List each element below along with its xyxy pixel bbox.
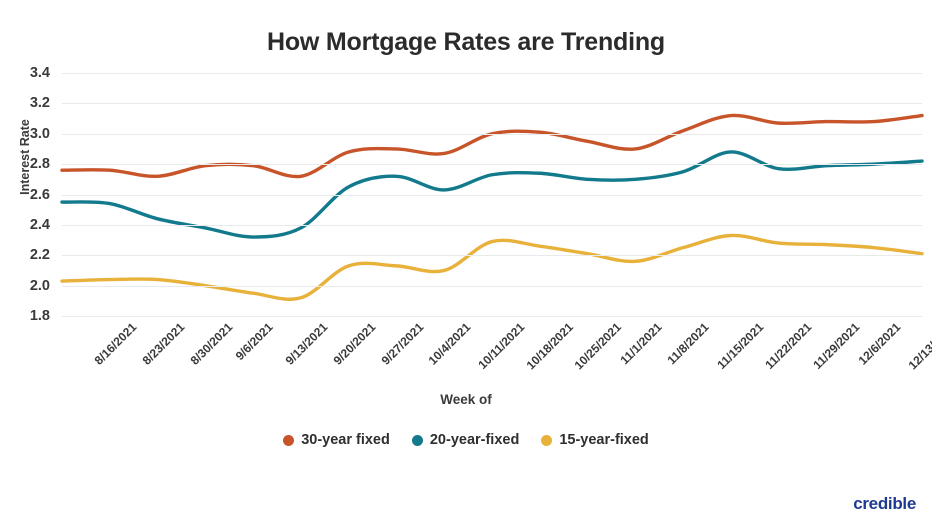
x-axis-tick: 10/11/2021 — [476, 320, 528, 372]
gridline — [62, 134, 922, 135]
x-axis-tick: 11/15/2021 — [715, 320, 767, 372]
brand-logo: credible — [853, 494, 916, 514]
legend-item[interactable]: 20-year-fixed — [412, 432, 519, 448]
gridline — [62, 164, 922, 165]
x-axis-tick: 11/29/2021 — [810, 320, 862, 372]
x-axis-tick: 12/6/2021 — [856, 320, 904, 368]
x-axis-tick-labels: 8/16/20218/23/20218/30/20219/6/20219/13/… — [62, 320, 922, 390]
x-axis-tick: 8/23/2021 — [139, 320, 187, 368]
legend-label: 15-year-fixed — [559, 432, 648, 448]
x-axis-title: Week of — [0, 392, 932, 407]
gridline — [62, 195, 922, 196]
x-axis-tick: 12/13/2021 — [906, 320, 932, 372]
x-axis-tick: 10/18/2021 — [524, 320, 576, 372]
x-axis-tick: 10/25/2021 — [571, 320, 623, 372]
y-axis-tick: 3.0 — [30, 126, 50, 142]
chart-legend: 30-year fixed20-year-fixed15-year-fixed — [0, 432, 932, 448]
x-axis-tick: 9/13/2021 — [283, 320, 331, 368]
y-axis-tick-labels: 3.43.23.02.82.62.42.22.01.8 — [0, 73, 60, 316]
x-axis-tick: 9/20/2021 — [331, 320, 379, 368]
y-axis-tick: 2.0 — [30, 278, 50, 294]
gridline — [62, 225, 922, 226]
y-axis-tick: 2.2 — [30, 247, 50, 263]
legend-dot-icon — [412, 435, 423, 446]
x-axis-tick: 8/30/2021 — [187, 320, 235, 368]
series-line — [62, 235, 922, 299]
gridline — [62, 255, 922, 256]
y-axis-tick: 1.8 — [30, 308, 50, 324]
legend-dot-icon — [541, 435, 552, 446]
gridline — [62, 73, 922, 74]
gridline — [62, 103, 922, 104]
y-axis-tick: 2.8 — [30, 156, 50, 172]
y-axis-tick: 3.2 — [30, 95, 50, 111]
page-title: How Mortgage Rates are Trending — [0, 28, 932, 57]
x-axis-tick: 9/6/2021 — [233, 320, 276, 363]
legend-label: 20-year-fixed — [430, 432, 519, 448]
legend-dot-icon — [283, 435, 294, 446]
legend-label: 30-year fixed — [301, 432, 390, 448]
y-axis-tick: 2.4 — [30, 217, 50, 233]
gridline — [62, 316, 922, 317]
x-axis-tick: 10/4/2021 — [426, 320, 474, 368]
plot-area — [62, 73, 922, 316]
x-axis-tick: 11/22/2021 — [762, 320, 814, 372]
legend-item[interactable]: 30-year fixed — [283, 432, 390, 448]
x-axis-tick: 9/27/2021 — [378, 320, 426, 368]
y-axis-tick: 3.4 — [30, 65, 50, 81]
x-axis-tick: 8/16/2021 — [92, 320, 140, 368]
x-axis-tick: 11/8/2021 — [665, 320, 712, 367]
legend-item[interactable]: 15-year-fixed — [541, 432, 648, 448]
x-axis-tick: 11/1/2021 — [617, 320, 664, 367]
chart-page: How Mortgage Rates are Trending Interest… — [0, 0, 932, 524]
gridline — [62, 286, 922, 287]
y-axis-tick: 2.6 — [30, 187, 50, 203]
